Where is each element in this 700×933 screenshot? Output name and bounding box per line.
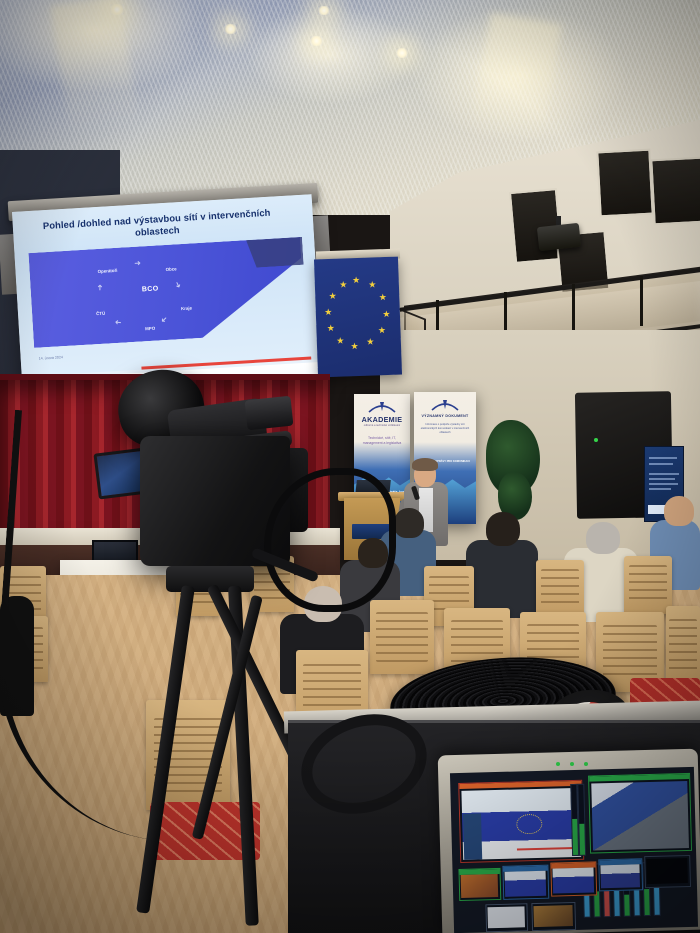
railing-post bbox=[640, 276, 643, 326]
source-thumbnail-black[interactable] bbox=[644, 855, 691, 888]
audio-fader-group[interactable] bbox=[570, 784, 586, 854]
audience-chair bbox=[666, 606, 700, 686]
audience-head bbox=[394, 508, 424, 538]
banner-heading: VÝZNAMNÝ DOKUMENT bbox=[414, 414, 476, 418]
source-image bbox=[505, 871, 547, 897]
source-thumbnail[interactable] bbox=[485, 903, 528, 932]
banner-body: Technické, sítě, IT, management a legisl… bbox=[358, 436, 405, 446]
banner-body: Informace o podpoře výstavby sítí elektr… bbox=[419, 423, 471, 434]
cycle-label-ctu: ČTÚ bbox=[96, 311, 105, 317]
audience-head bbox=[586, 522, 620, 554]
cycle-arrow-icon: ➜ bbox=[134, 258, 141, 267]
cycle-arrow-icon: ➜ bbox=[95, 284, 104, 291]
chair-slats bbox=[541, 569, 579, 608]
audience-chair bbox=[370, 600, 434, 674]
ceiling-spotlight-icon bbox=[318, 6, 330, 15]
ceiling-spotlight-icon bbox=[110, 4, 124, 15]
chair-slats bbox=[376, 612, 427, 662]
window bbox=[596, 149, 653, 218]
program-window[interactable] bbox=[458, 780, 584, 863]
status-led bbox=[570, 762, 574, 766]
banner-heading: AKADEMIE bbox=[354, 415, 410, 424]
speaker-hair bbox=[412, 458, 438, 471]
photo-scene: Pohled /dohled nad výstavbou sítí v inte… bbox=[0, 0, 700, 933]
chair-slats bbox=[629, 565, 667, 604]
ceiling-spotlight-icon bbox=[396, 48, 408, 58]
source-image bbox=[646, 858, 688, 884]
cycle-center-label: BCO bbox=[142, 285, 159, 293]
audience-chair bbox=[536, 560, 584, 618]
railing-post bbox=[572, 284, 575, 336]
source-image bbox=[600, 864, 640, 888]
source-image bbox=[487, 906, 525, 928]
status-led bbox=[584, 762, 588, 766]
cycle-label-kraje: Kraje bbox=[181, 305, 192, 311]
cycle-label-obce: Obce bbox=[166, 266, 177, 272]
source-thumbnail[interactable] bbox=[502, 865, 549, 900]
status-led bbox=[556, 762, 560, 766]
presentation-slide: Pohled /dohled nad výstavbou sítí v inte… bbox=[12, 194, 321, 377]
audience-head bbox=[486, 512, 520, 546]
multiview-screen[interactable] bbox=[450, 767, 698, 933]
source-image bbox=[461, 874, 499, 898]
audience-person bbox=[466, 540, 538, 618]
speaker-power-led bbox=[594, 438, 598, 442]
ceiling-spotlight-icon bbox=[224, 24, 237, 34]
banner-subheading: odborné a technické vzdělávání bbox=[354, 424, 410, 427]
source-thumbnail[interactable] bbox=[458, 868, 501, 901]
pro-logo-icon bbox=[429, 397, 461, 413]
eu-flag: ★ ★ ★ ★ ★ ★ ★ ★ ★ ★ ★ ★ bbox=[314, 257, 402, 378]
chair-slats bbox=[603, 625, 657, 679]
cycle-label-mpo: MPO bbox=[145, 326, 155, 332]
window bbox=[650, 157, 700, 226]
preview-thumbnail bbox=[591, 781, 689, 850]
source-thumbnail[interactable] bbox=[598, 858, 643, 891]
slide-date: 14. února 2024 bbox=[39, 355, 63, 360]
slide-title: Pohled /dohled nad výstavbou sítí v inte… bbox=[27, 206, 288, 246]
ceiling-projector bbox=[537, 223, 581, 251]
source-image bbox=[552, 867, 594, 893]
ceiling-spotlight-icon bbox=[310, 36, 323, 46]
source-image bbox=[533, 905, 573, 927]
source-thumbnail[interactable] bbox=[550, 861, 597, 896]
source-thumbnail[interactable] bbox=[531, 902, 576, 931]
audience-chair bbox=[624, 556, 672, 614]
preview-window[interactable] bbox=[588, 773, 692, 854]
audience-head bbox=[664, 496, 694, 526]
chair-slats bbox=[669, 619, 696, 673]
viewfinder[interactable] bbox=[245, 396, 294, 431]
pro-logo-icon bbox=[366, 399, 398, 415]
program-speaker-figure bbox=[463, 813, 482, 859]
cycle-arrow-icon: ➜ bbox=[114, 318, 122, 328]
